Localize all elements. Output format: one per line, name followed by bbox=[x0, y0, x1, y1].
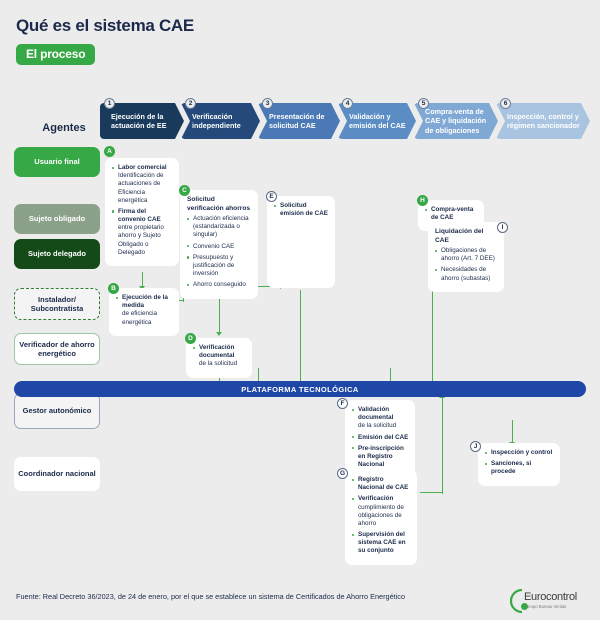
agent-coordinador-nacional: Coordinador nacional bbox=[14, 457, 100, 491]
step-number-badge-1: 1 bbox=[104, 98, 115, 109]
step-number-badge-4: 4 bbox=[342, 98, 353, 109]
card-bullet: Solicitud emisión de CAE bbox=[274, 202, 329, 218]
flow-arrow bbox=[420, 492, 442, 493]
card-badge-a: A bbox=[104, 146, 115, 157]
card-bullet: Presupuesto y justificación de inversión bbox=[187, 254, 252, 279]
flow-arrow bbox=[442, 398, 443, 494]
step-number-badge-5: 5 bbox=[418, 98, 429, 109]
page-title: Qué es el sistema CAE bbox=[16, 16, 194, 36]
agent-sujeto-obligado: Sujeto obligado bbox=[14, 204, 100, 234]
card-badge-i: I bbox=[497, 222, 508, 233]
step-number-badge-3: 3 bbox=[262, 98, 273, 109]
agent-gestor-autonomico: Gestor autonómico bbox=[14, 393, 100, 429]
card-bullet: Labor comercialIdentificación de actuaci… bbox=[112, 164, 173, 205]
agent-sujeto-delegado: Sujeto delegado bbox=[14, 239, 100, 269]
card-badge-f: F bbox=[337, 398, 348, 409]
flow-arrowhead bbox=[216, 332, 222, 336]
card-bullet: Convenio CAE bbox=[187, 243, 252, 251]
card-bullet: Ejecución de la medidade eficiencia ener… bbox=[116, 294, 173, 327]
card-bullet: Inspección y control bbox=[485, 449, 554, 457]
process-step-1: Ejecución de la actuación de EE bbox=[100, 103, 184, 139]
card-title: Liquidación del CAE bbox=[435, 228, 498, 245]
agent-verificador-ahorro: Verificador de ahorro energético bbox=[14, 333, 100, 365]
card-badge-h: H bbox=[417, 195, 428, 206]
card-bullet: Validación documentalde la solicitud bbox=[352, 406, 409, 431]
agent-usuario-final: Usuario final bbox=[14, 147, 100, 177]
footer: Fuente: Real Decreto 36/2023, de 24 de e… bbox=[0, 583, 600, 618]
flow-arrow bbox=[258, 368, 259, 382]
card-a: Labor comercialIdentificación de actuaci… bbox=[105, 158, 179, 266]
card-g: Registro Nacional de CAEVerificacióncump… bbox=[345, 470, 417, 565]
eurocontrol-logo: Eurocontrol Grupo Bureau Veritas bbox=[510, 587, 586, 615]
step-number-badge-2: 2 bbox=[185, 98, 196, 109]
card-bullet: Verificacióncumplimiento de obligaciones… bbox=[352, 495, 411, 528]
card-c: Solicitud verificación ahorrosActuación … bbox=[180, 190, 258, 299]
flow-arrow bbox=[512, 420, 513, 442]
flow-arrow bbox=[142, 272, 143, 286]
card-b: Ejecución de la medidade eficiencia ener… bbox=[109, 288, 179, 336]
process-step-5: Compra-venta de CAE y liquidación de obl… bbox=[414, 103, 498, 139]
card-bullet: Compra-venta de CAE bbox=[425, 206, 478, 222]
card-badge-d: D bbox=[185, 333, 196, 344]
card-d: Verificación documentalde la solicitud bbox=[186, 338, 252, 378]
card-e: Solicitud emisión de CAE bbox=[267, 196, 335, 288]
step-number-badge-6: 6 bbox=[500, 98, 511, 109]
card-badge-c: C bbox=[179, 185, 190, 196]
process-step-6: Inspección, control y régimen sancionado… bbox=[496, 103, 590, 139]
source-text: Fuente: Real Decreto 36/2023, de 24 de e… bbox=[16, 592, 405, 601]
agent-instalador-subcontratista: Instalador/ Subcontratista bbox=[14, 288, 100, 320]
platform-bar: PLATAFORMA TECNOLÓGICA bbox=[14, 381, 586, 397]
flow-arrow bbox=[219, 296, 220, 332]
flow-arrow bbox=[300, 290, 301, 382]
card-bullet: Verificación documentalde la solicitud bbox=[193, 344, 246, 369]
card-badge-e: E bbox=[266, 191, 277, 202]
card-bullet: Registro Nacional de CAE bbox=[352, 476, 411, 492]
card-badge-b: B bbox=[108, 283, 119, 294]
card-title: Solicitud verificación ahorros bbox=[187, 196, 252, 213]
card-badge-g: G bbox=[337, 468, 348, 479]
infographic-page: Qué es el sistema CAE El proceso Agentes… bbox=[0, 0, 600, 618]
logo-tagline: Grupo Bureau Veritas bbox=[526, 604, 566, 609]
card-bullet: Pre-inscripción en Registro Nacional bbox=[352, 445, 409, 470]
card-bullet: Firma del convenio CAEentre propietario … bbox=[112, 208, 173, 257]
card-f: Validación documentalde la solicitudEmis… bbox=[345, 400, 415, 478]
card-bullet: Obligaciones de ahorro (Art. 7 DEE) bbox=[435, 247, 498, 263]
card-bullet: Actuación eficiencia (estandarizada o si… bbox=[187, 215, 252, 240]
card-bullet: Sanciones, si procede bbox=[485, 460, 554, 476]
card-i: Liquidación del CAEObligaciones de ahorr… bbox=[428, 222, 504, 292]
agents-column-label: Agentes bbox=[24, 122, 104, 134]
card-bullet: Emisión del CAE bbox=[352, 434, 409, 442]
subtitle-badge: El proceso bbox=[16, 44, 95, 65]
card-j: Inspección y controlSanciones, si proced… bbox=[478, 443, 560, 486]
process-step-3: Presentación de solicitud CAE bbox=[258, 103, 340, 139]
card-badge-j: J bbox=[470, 441, 481, 452]
flow-arrow bbox=[432, 288, 433, 382]
flow-arrow bbox=[390, 368, 391, 382]
card-bullet: Necesidades de ahorro (subastas) bbox=[435, 266, 498, 282]
card-bullet: Supervisión del sistema CAE en su conjun… bbox=[352, 531, 411, 556]
logo-wordmark: Eurocontrol bbox=[524, 591, 577, 603]
card-bullet: Ahorro conseguido bbox=[187, 281, 252, 289]
